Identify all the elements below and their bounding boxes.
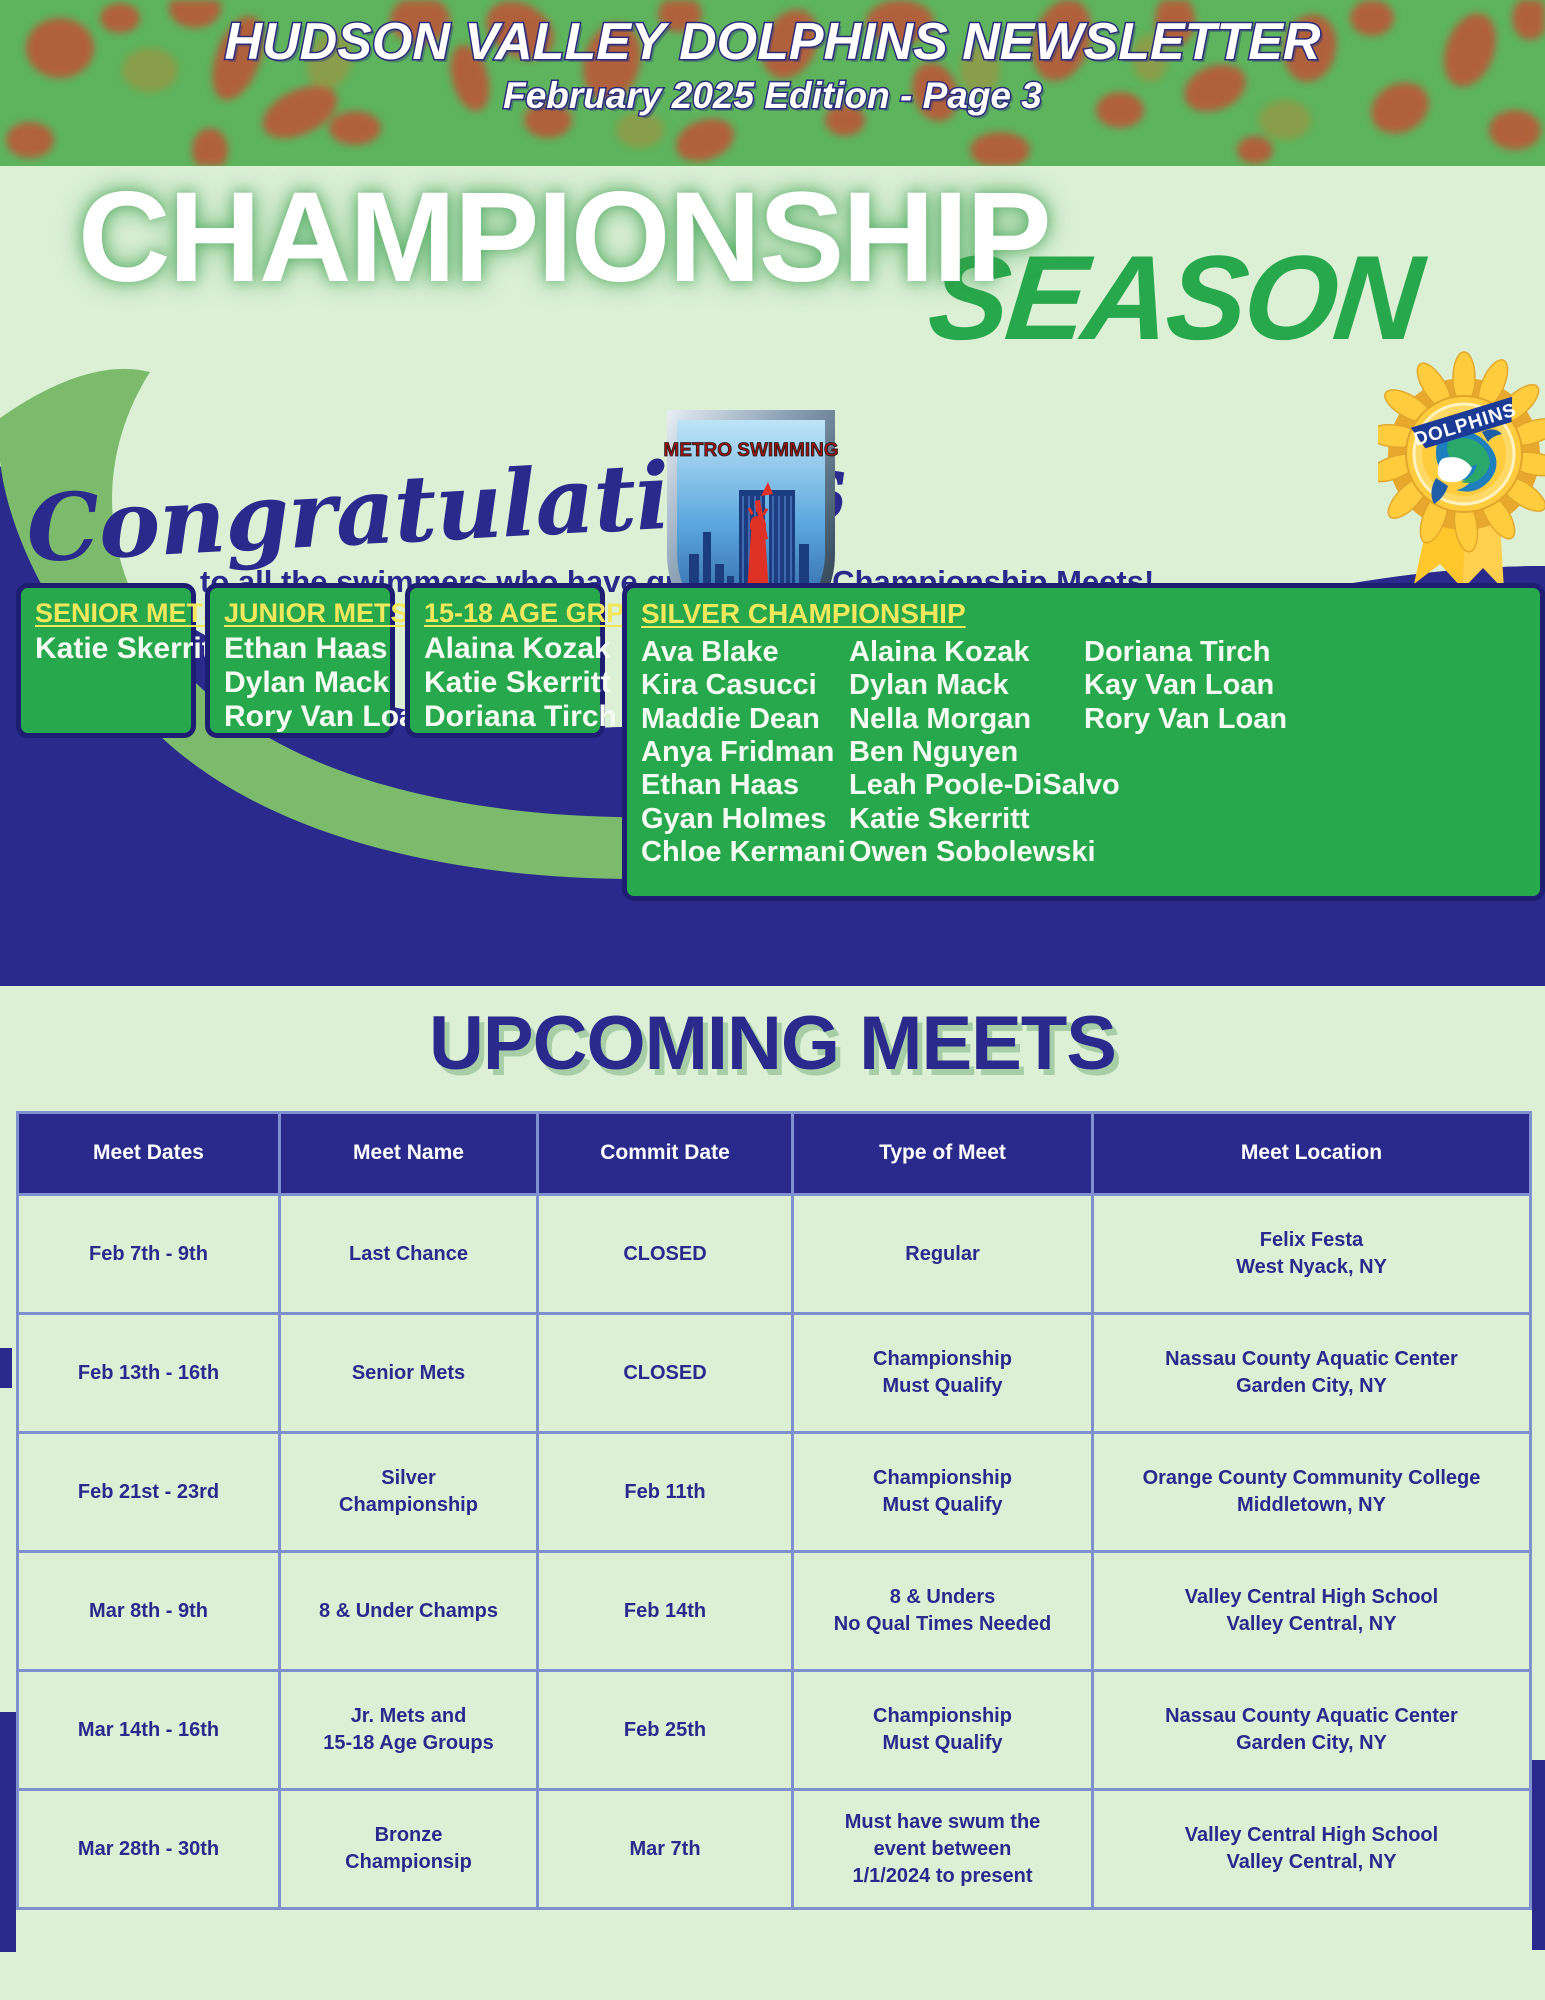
cell-meet-location: Orange County Community CollegeMiddletow…: [1093, 1433, 1531, 1552]
left-navy-edge-artifact-upper: [0, 1348, 12, 1388]
cell-meet-location: Valley Central High SchoolValley Central…: [1093, 1552, 1531, 1671]
newsletter-header-banner: HUDSON VALLEY DOLPHINS NEWSLETTER Februa…: [0, 0, 1545, 166]
cell-meet-name: Senior Mets: [280, 1314, 538, 1433]
cell-meet-dates: Feb 21st - 23rd: [18, 1433, 280, 1552]
cell-meet-name: Last Chance: [280, 1195, 538, 1314]
cell-commit-date: CLOSED: [538, 1314, 793, 1433]
cell-type-of-meet: ChampionshipMust Qualify: [793, 1314, 1093, 1433]
silver-name: Nella Morgan: [849, 703, 1084, 736]
cell-commit-date: Feb 14th: [538, 1552, 793, 1671]
column-header-meet-location: Meet Location: [1093, 1113, 1531, 1195]
cell-meet-name: SilverChampionship: [280, 1433, 538, 1552]
upcoming-meets-table: Meet Dates Meet Name Commit Date Type of…: [16, 1111, 1532, 1910]
card-title-senior-mets: SENIOR METS: [35, 598, 177, 629]
silver-column-1: Ava Blake Kira Casucci Maddie Dean Anya …: [641, 636, 849, 869]
card-title-15-18-age-group: 15-18 AGE GRP: [424, 598, 586, 629]
silver-name: Leah Poole-DiSalvo: [849, 769, 1084, 802]
silver-name: Owen Sobolewski: [849, 836, 1084, 869]
cell-meet-name: Jr. Mets and15-18 Age Groups: [280, 1671, 538, 1790]
cell-meet-dates: Feb 13th - 16th: [18, 1314, 280, 1433]
card-name-senior-0: Katie Skerritt: [35, 632, 177, 666]
silver-name: Gyan Holmes: [641, 803, 849, 836]
table-header-row: Meet Dates Meet Name Commit Date Type of…: [18, 1113, 1531, 1195]
dolphins-award-rosette-icon: DOLPHINS: [1378, 346, 1545, 596]
silver-column-2: Alaina Kozak Dylan Mack Nella Morgan Ben…: [849, 636, 1084, 869]
cell-meet-location: Felix FestaWest Nyack, NY: [1093, 1195, 1531, 1314]
silver-name: Kira Casucci: [641, 669, 849, 702]
cell-meet-location: Nassau County Aquatic CenterGarden City,…: [1093, 1314, 1531, 1433]
silver-name: Alaina Kozak: [849, 636, 1084, 669]
cell-commit-date: CLOSED: [538, 1195, 793, 1314]
cell-meet-dates: Mar 28th - 30th: [18, 1790, 280, 1909]
card-name-junior-0: Ethan Haas: [224, 632, 376, 666]
page-bottom-strip: [0, 1962, 1545, 2000]
newsletter-edition-subtitle: February 2025 Edition - Page 3: [0, 75, 1545, 117]
silver-name: Ava Blake: [641, 636, 849, 669]
cell-meet-dates: Mar 8th - 9th: [18, 1552, 280, 1671]
silver-name: Doriana Tirch: [1084, 636, 1292, 669]
championship-heading: CHAMPIONSHIP: [78, 174, 1050, 302]
cell-type-of-meet: ChampionshipMust Qualify: [793, 1671, 1093, 1790]
card-title-silver-championship: SILVER CHAMPIONSHIP: [641, 598, 1526, 630]
cell-meet-name: BronzeChampionsip: [280, 1790, 538, 1909]
qualifier-card-senior-mets: SENIOR METS Katie Skerritt: [16, 583, 196, 738]
cell-type-of-meet: ChampionshipMust Qualify: [793, 1433, 1093, 1552]
right-navy-edge-artifact: [1532, 1760, 1545, 1950]
metro-swimming-label: METRO SWIMMING: [663, 440, 838, 461]
cell-type-of-meet: 8 & UndersNo Qual Times Needed: [793, 1552, 1093, 1671]
cell-type-of-meet: Must have swum theevent between1/1/2024 …: [793, 1790, 1093, 1909]
card-name-junior-2: Rory Van Loan: [224, 700, 376, 734]
cell-meet-dates: Mar 14th - 16th: [18, 1671, 280, 1790]
cell-commit-date: Mar 7th: [538, 1790, 793, 1909]
cell-meet-dates: Feb 7th - 9th: [18, 1195, 280, 1314]
newsletter-title: HUDSON VALLEY DOLPHINS NEWSLETTER: [0, 16, 1545, 69]
silver-name: Maddie Dean: [641, 703, 849, 736]
newsletter-page: HUDSON VALLEY DOLPHINS NEWSLETTER Februa…: [0, 0, 1545, 2000]
silver-column-3: Doriana Tirch Kay Van Loan Rory Van Loan: [1084, 636, 1292, 869]
table-row: Mar 14th - 16th Jr. Mets and15-18 Age Gr…: [18, 1671, 1531, 1790]
column-header-commit-date: Commit Date: [538, 1113, 793, 1195]
silver-name: Katie Skerritt: [849, 803, 1084, 836]
silver-name: Kay Van Loan: [1084, 669, 1292, 702]
card-name-1518-1: Katie Skerritt: [424, 666, 586, 700]
column-header-meet-name: Meet Name: [280, 1113, 538, 1195]
table-row: Mar 8th - 9th 8 & Under Champs Feb 14th …: [18, 1552, 1531, 1671]
column-header-type-of-meet: Type of Meet: [793, 1113, 1093, 1195]
cell-meet-name: 8 & Under Champs: [280, 1552, 538, 1671]
silver-name: Rory Van Loan: [1084, 703, 1292, 736]
cell-meet-location: Valley Central High SchoolValley Central…: [1093, 1790, 1531, 1909]
left-navy-edge-artifact-lower: [0, 1712, 16, 1952]
cell-commit-date: Feb 25th: [538, 1671, 793, 1790]
silver-name: Dylan Mack: [849, 669, 1084, 702]
table-row: Mar 28th - 30th BronzeChampionsip Mar 7t…: [18, 1790, 1531, 1909]
cell-commit-date: Feb 11th: [538, 1433, 793, 1552]
silver-name: Ben Nguyen: [849, 736, 1084, 769]
qualifier-card-silver-championship: SILVER CHAMPIONSHIP Ava Blake Kira Casuc…: [622, 583, 1545, 901]
table-row: Feb 21st - 23rd SilverChampionship Feb 1…: [18, 1433, 1531, 1552]
table-row: Feb 13th - 16th Senior Mets CLOSED Champ…: [18, 1314, 1531, 1433]
upcoming-meets-heading: UPCOMING MEETS: [0, 986, 1545, 1082]
silver-name: Ethan Haas: [641, 769, 849, 802]
table-row: Feb 7th - 9th Last Chance CLOSED Regular…: [18, 1195, 1531, 1314]
column-header-meet-dates: Meet Dates: [18, 1113, 280, 1195]
card-name-1518-2: Doriana Tirch: [424, 700, 586, 734]
championship-season-hero: CHAMPIONSHIP SEASON: [0, 166, 1545, 986]
qualifier-card-junior-mets: JUNIOR METS Ethan Haas Dylan Mack Rory V…: [205, 583, 395, 738]
cell-type-of-meet: Regular: [793, 1195, 1093, 1314]
upcoming-meets-section: UPCOMING MEETS Meet Dates Meet Name Comm…: [0, 986, 1545, 2000]
card-name-junior-1: Dylan Mack: [224, 666, 376, 700]
silver-name-columns: Ava Blake Kira Casucci Maddie Dean Anya …: [641, 636, 1526, 869]
silver-name: Chloe Kermani: [641, 836, 849, 869]
qualifier-card-15-18-age-group: 15-18 AGE GRP Alaina Kozak Katie Skerrit…: [405, 583, 605, 738]
card-title-junior-mets: JUNIOR METS: [224, 598, 376, 629]
cell-meet-location: Nassau County Aquatic CenterGarden City,…: [1093, 1671, 1531, 1790]
card-name-1518-0: Alaina Kozak: [424, 632, 586, 666]
silver-name: Anya Fridman: [641, 736, 849, 769]
